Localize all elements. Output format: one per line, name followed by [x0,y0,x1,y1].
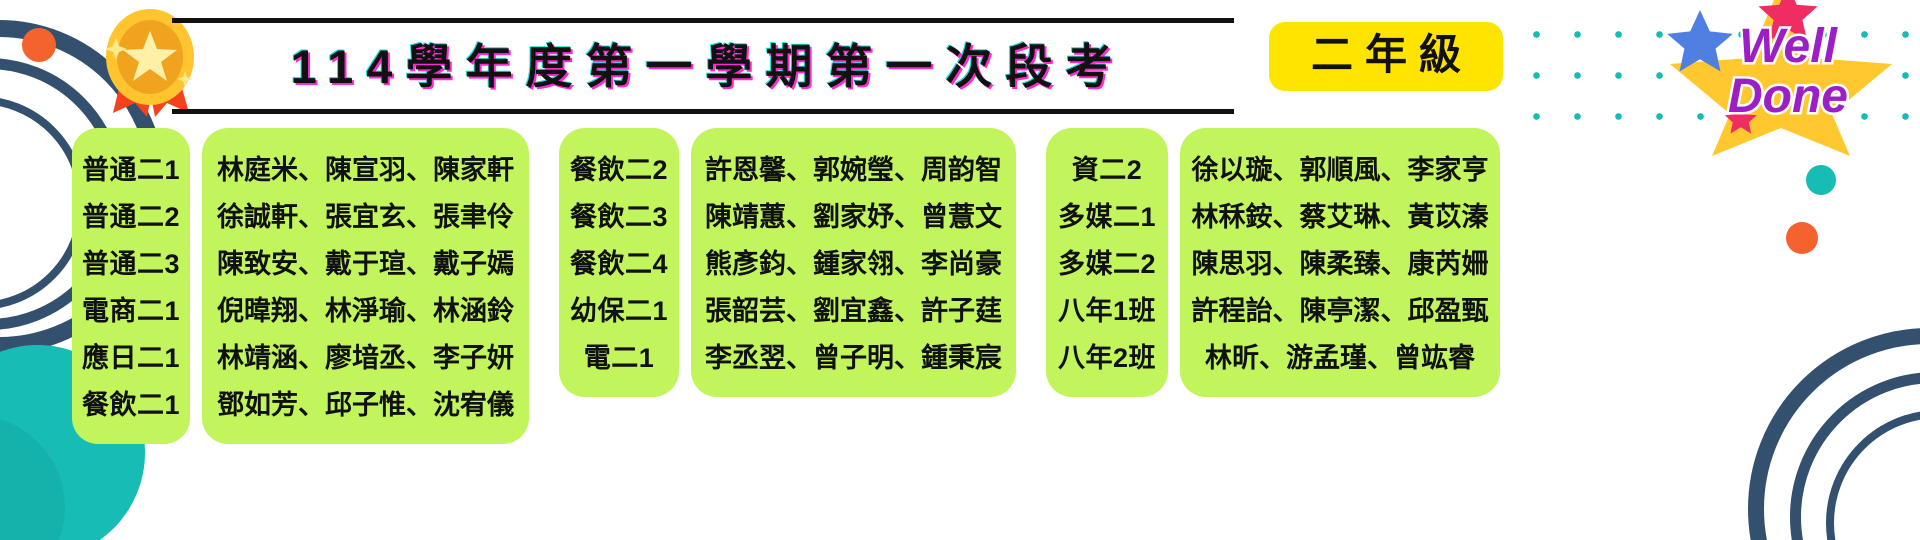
class-label: 普通二3 [72,238,190,285]
class-label-panel-2: 餐飲二2 餐飲二3 餐飲二4 幼保二1 電二1 [559,128,679,397]
class-label: 普通二1 [72,144,190,191]
poster-header: 114學年度第一學期第一次段考 二年級 Well Done [0,0,1920,122]
student-names-row: 陳思羽、陳柔臻、康芮姍 [1180,238,1500,285]
student-names-row: 陳致安、戴于瑄、戴子嫣 [202,238,529,285]
class-label: 普通二2 [72,191,190,238]
student-names-panel-3: 徐以璇、郭順風、李家亨 林秝銨、蔡艾琳、黃苡溱 陳思羽、陳柔臻、康芮姍 許程詒、… [1180,128,1500,397]
grade-badge-label: 二年級 [1299,34,1473,76]
student-names-row: 陳靖蕙、劉家妤、曾薏文 [691,191,1016,238]
class-label-panel-3: 資二2 多媒二1 多媒二2 八年1班 八年2班 [1046,128,1168,397]
class-label: 資二2 [1046,144,1168,191]
well-done-line2: Done [1728,70,1848,123]
grade-badge: 二年級 [1269,22,1503,91]
class-label: 多媒二1 [1046,191,1168,238]
roster-group-1: 普通二1 普通二2 普通二3 電商二1 應日二1 餐飲二1 林庭米、陳宣羽、陳家… [72,128,529,444]
class-label: 餐飲二2 [559,144,679,191]
class-label: 應日二1 [72,332,190,379]
decorative-orange-dot-right [1786,222,1818,254]
decorative-ring-right-outer [1748,328,1920,540]
student-names-row: 徐誠軒、張宜玄、張聿伶 [202,191,529,238]
decorative-teal-dot-right [1806,165,1836,195]
student-names-row: 熊彥鈞、鍾家翎、李尚豪 [691,238,1016,285]
decorative-teal-blob-2 [0,415,65,540]
student-names-row: 林秝銨、蔡艾琳、黃苡溱 [1180,191,1500,238]
student-names-row: 許程詒、陳亭潔、邱盈甄 [1180,285,1500,332]
class-label-panel-1: 普通二1 普通二2 普通二3 電商二1 應日二1 餐飲二1 [72,128,190,444]
student-names-row: 鄧如芳、邱子惟、沈宥儀 [202,379,529,426]
well-done-line1: Well [1739,20,1838,73]
class-label: 餐飲二3 [559,191,679,238]
class-label: 電二1 [559,332,679,379]
student-names-row: 林昕、游孟瑾、曾竑睿 [1180,332,1500,379]
student-names-row: 許恩馨、郭婉瑩、周韵智 [691,144,1016,191]
student-names-panel-1: 林庭米、陳宣羽、陳家軒 徐誠軒、張宜玄、張聿伶 陳致安、戴于瑄、戴子嫣 倪暐翔、… [202,128,529,444]
page-title: 114學年度第一學期第一次段考 [281,43,1126,90]
decorative-ring-right-inner [1826,410,1920,540]
student-names-row: 林靖涵、廖堷丞、李子妍 [202,332,529,379]
student-names-row: 倪暐翔、林淨瑜、林涵鈴 [202,285,529,332]
poster-canvas: 114學年度第一學期第一次段考 二年級 Well Done 普通二1 普通二2 … [0,0,1920,540]
roster-group-3: 資二2 多媒二1 多媒二2 八年1班 八年2班 徐以璇、郭順風、李家亨 林秝銨、… [1046,128,1500,397]
decorative-ring-right-middle [1790,372,1920,540]
class-label: 八年2班 [1046,332,1168,379]
exam-title-box: 114學年度第一學期第一次段考 [172,18,1234,114]
well-done-star-icon: Well Done [1640,0,1920,158]
student-names-row: 林庭米、陳宣羽、陳家軒 [202,144,529,191]
class-label: 餐飲二1 [72,379,190,426]
student-names-row: 徐以璇、郭順風、李家亨 [1180,144,1500,191]
class-label: 幼保二1 [559,285,679,332]
student-names-panel-2: 許恩馨、郭婉瑩、周韵智 陳靖蕙、劉家妤、曾薏文 熊彥鈞、鍾家翎、李尚豪 張韶芸、… [691,128,1016,397]
student-names-row: 張韶芸、劉宜鑫、許子莛 [691,285,1016,332]
class-roster-board: 普通二1 普通二2 普通二3 電商二1 應日二1 餐飲二1 林庭米、陳宣羽、陳家… [72,128,1500,444]
class-label: 多媒二2 [1046,238,1168,285]
student-names-row: 李丞翌、曾子明、鍾秉宸 [691,332,1016,379]
class-label: 餐飲二4 [559,238,679,285]
class-label: 電商二1 [72,285,190,332]
roster-group-2: 餐飲二2 餐飲二3 餐飲二4 幼保二1 電二1 許恩馨、郭婉瑩、周韵智 陳靖蕙、… [559,128,1016,397]
class-label: 八年1班 [1046,285,1168,332]
